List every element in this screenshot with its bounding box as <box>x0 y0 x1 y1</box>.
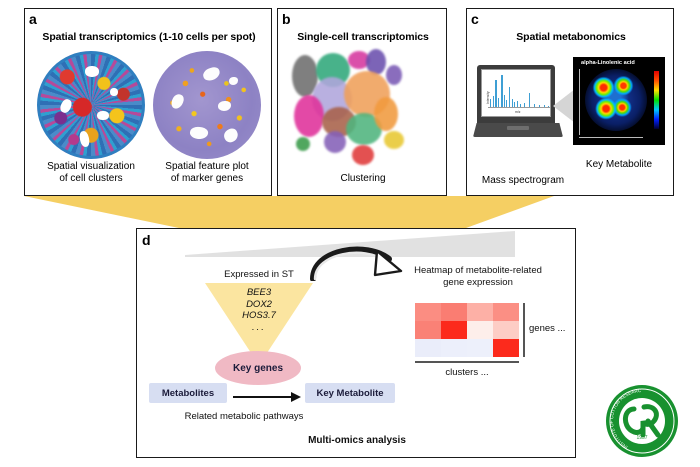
umap-cluster <box>386 65 402 85</box>
panel-a: a Spatial transcriptomics (1-10 cells pe… <box>24 8 272 196</box>
umap-cluster <box>384 131 404 149</box>
umap-cluster <box>352 145 374 165</box>
pathway-arrow-icon <box>233 389 301 399</box>
msi-tissue-signal <box>585 69 647 131</box>
spatial-feature-plot-caption: Spatial feature plot of marker genes <box>145 161 269 185</box>
related-metabolic-pathways-label: Related metabolic pathways <box>149 411 339 422</box>
panel-b-title: Single-cell transcriptomics <box>278 31 448 43</box>
heatmap-row-axis-line <box>523 303 525 357</box>
key-metabolite-caption: Key Metabolite <box>573 159 665 171</box>
panel-b-label: b <box>282 12 291 26</box>
panel-c-title: Spatial metabonomics <box>467 31 675 43</box>
heatmap-title-line-1: Heatmap of metabolite-related <box>385 265 571 277</box>
panel-d-label: d <box>142 233 151 247</box>
institute-of-cotton-research-caas-logo: 1957 INSTITUTE OF COTTON RESEARCH OF CAA… <box>604 383 680 459</box>
heatmap-cell <box>493 303 519 321</box>
heatmap-cell <box>415 303 441 321</box>
gene-list: BEE3 DOX2 HOS3.7 ... <box>199 287 319 333</box>
gene-item: ... <box>199 322 319 334</box>
gene-expression-heatmap <box>415 303 519 357</box>
heatmap-title: Heatmap of metabolite-related gene expre… <box>385 265 571 289</box>
heatmap-row-axis-label: genes ... <box>529 323 577 334</box>
spatial-feature-plot-image <box>153 51 261 159</box>
heatmap-title-line-2: gene expression <box>385 277 571 289</box>
caption-line-1: Spatial feature plot <box>145 161 269 173</box>
heatmap-cell <box>467 303 493 321</box>
spatial-cluster-map-caption: Spatial visualization of cell clusters <box>29 161 153 185</box>
metabolites-node[interactable]: Metabolites <box>149 383 227 403</box>
heatmap-cell <box>415 339 441 357</box>
panel-a-label: a <box>29 12 37 26</box>
heatmap-col-axis-line <box>415 361 519 363</box>
caption-line-2: of cell clusters <box>29 173 153 185</box>
umap-cluster <box>296 137 310 151</box>
panel-b-caption: Clustering <box>278 173 448 185</box>
panel-c-label: c <box>471 12 479 26</box>
caption-line-2: of marker genes <box>145 173 269 185</box>
panel-d-footer: Multi-omics analysis <box>137 435 577 446</box>
msi-metabolite-title: alpha-Linolenic acid <box>581 60 635 66</box>
panel-a-title: Spatial transcriptomics (1-10 cells per … <box>25 31 273 43</box>
heatmap-cell <box>467 321 493 339</box>
laptop-trackpad <box>507 126 529 130</box>
msi-colorbar <box>654 71 659 129</box>
caption-line-1: Spatial visualization <box>29 161 153 173</box>
panel-d: d Expressed in ST BEE3 DOX2 HOS3.7 ... K… <box>136 228 576 458</box>
key-genes-node[interactable]: Key genes <box>215 351 301 385</box>
heatmap-col-axis-label: clusters ... <box>425 367 509 378</box>
svg-text:1957: 1957 <box>636 435 647 441</box>
spatial-cluster-map-image <box>37 51 145 159</box>
key-metabolite-node[interactable]: Key Metabolite <box>305 383 395 403</box>
gene-item: HOS3.7 <box>199 310 319 322</box>
heatmap-cell <box>467 339 493 357</box>
heatmap-cell <box>493 321 519 339</box>
umap-cluster-scatter <box>286 49 440 167</box>
mass-spectrogram-caption: Mass spectrogram <box>467 175 579 187</box>
gene-item: DOX2 <box>199 299 319 311</box>
gene-item: BEE3 <box>199 287 319 299</box>
spectrum-xlabel: m/z <box>515 110 520 114</box>
umap-cluster <box>324 131 346 153</box>
expressed-in-st-label: Expressed in ST <box>169 269 349 280</box>
panel-b: b Single-cell transcriptomics Clustering <box>277 8 447 196</box>
heatmap-cell <box>441 321 467 339</box>
panel-c: c Spatial metabonomics Intensity m/z <box>466 8 674 196</box>
heatmap-cell <box>441 339 467 357</box>
umap-cluster <box>374 97 398 131</box>
left-arrow-icon <box>553 89 575 123</box>
heatmap-cell <box>493 339 519 357</box>
mass-spectrum-plot: Intensity m/z <box>481 69 551 117</box>
heatmap-cell <box>415 321 441 339</box>
heatmap-cell <box>441 303 467 321</box>
msi-ion-image: alpha-Linolenic acid <box>573 57 665 145</box>
umap-cluster <box>294 95 324 137</box>
